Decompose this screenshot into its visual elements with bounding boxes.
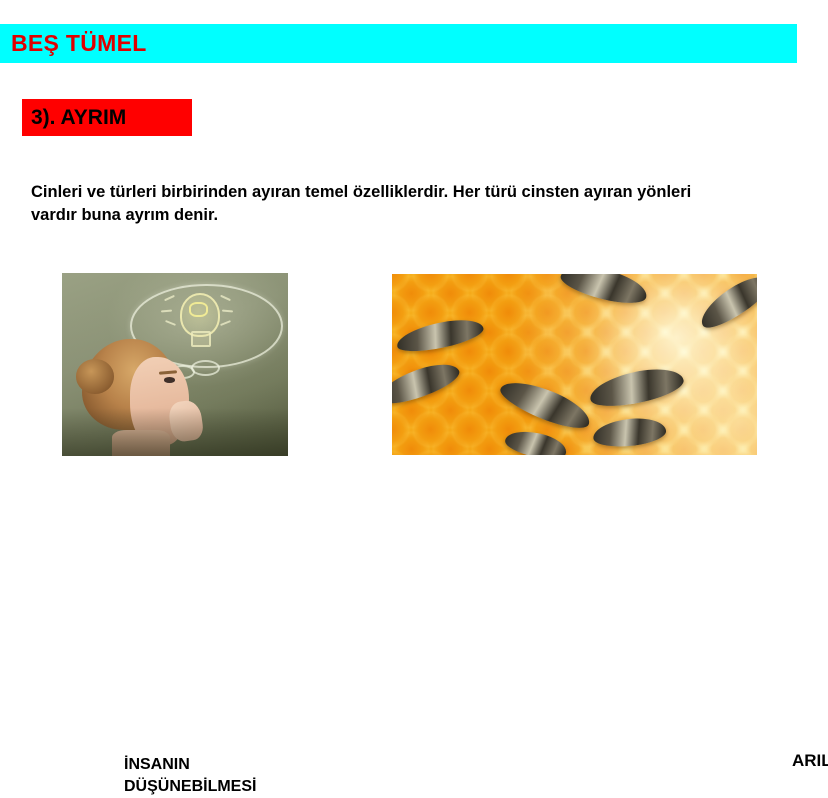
page-title: BEŞ TÜMEL — [11, 32, 147, 55]
lightbulb-base-icon — [191, 331, 211, 348]
lightbulb-ray-icon — [222, 309, 233, 312]
figure-thinking-person: İNSANIN DÜŞÜNEBİLMESİ — [62, 273, 288, 456]
photo-bees-honeycomb — [392, 274, 757, 455]
figure-bees-honeycomb: ARILARIN BAL YAPABİLMESİ — [392, 274, 757, 455]
lightbulb-filament-icon — [189, 302, 209, 317]
section-badge-label: 3). AYRIM — [31, 107, 126, 128]
photo-thinking-person — [62, 273, 288, 456]
body-paragraph: Cinleri ve türleri birbirinden ayıran te… — [31, 181, 731, 228]
thought-bubble-dot-large — [191, 360, 220, 376]
figure-caption-bees-honeycomb: ARILARIN BAL YAPABİLMESİ — [792, 750, 828, 772]
photo-vignette — [62, 408, 288, 456]
section-badge: 3). AYRIM — [22, 99, 192, 136]
woman-eye — [164, 377, 175, 382]
slide-canvas: BEŞ TÜMEL 3). AYRIM Cinleri ve türleri b… — [0, 0, 828, 621]
woman-hair-bun — [76, 359, 114, 394]
figure-caption-thinking-person: İNSANIN DÜŞÜNEBİLMESİ — [124, 754, 256, 798]
slide-title-bar: BEŞ TÜMEL — [0, 24, 797, 63]
